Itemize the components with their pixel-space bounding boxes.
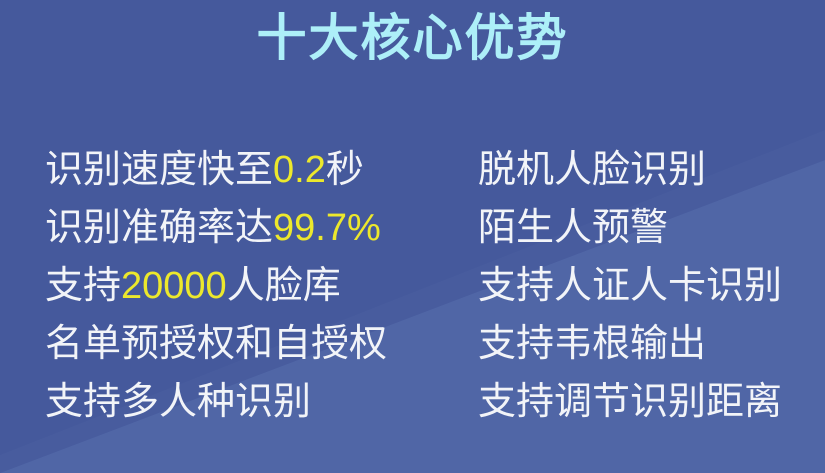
feature-highlight: 99.7% bbox=[273, 207, 381, 249]
feature-text-prefix: 支持韦根输出 bbox=[478, 323, 706, 365]
feature-highlight: 0.2 bbox=[273, 149, 326, 191]
feature-text-prefix: 识别准确率达 bbox=[45, 207, 273, 249]
feature-column-right: 脱机人脸识别 陌生人预警 支持人证人卡识别 支持韦根输出 支持调节识别距离 bbox=[478, 141, 825, 431]
feature-item: 识别准确率达99.7% bbox=[45, 199, 465, 257]
feature-text-prefix: 支持人证人卡识别 bbox=[478, 265, 782, 307]
feature-item: 支持调节识别距离 bbox=[478, 373, 825, 431]
feature-highlight: 20000 bbox=[121, 265, 227, 307]
feature-text-suffix: 秒 bbox=[326, 149, 364, 191]
feature-column-left: 识别速度快至0.2秒 识别准确率达99.7% 支持20000人脸库 名单预授权和… bbox=[45, 141, 465, 431]
promo-slide: 十大核心优势 识别速度快至0.2秒 识别准确率达99.7% 支持20000人脸库… bbox=[0, 0, 825, 473]
feature-item: 识别速度快至0.2秒 bbox=[45, 141, 465, 199]
feature-text-suffix: 人脸库 bbox=[227, 265, 341, 307]
feature-text-prefix: 识别速度快至 bbox=[45, 149, 273, 191]
feature-item: 脱机人脸识别 bbox=[478, 141, 825, 199]
feature-columns: 识别速度快至0.2秒 识别准确率达99.7% 支持20000人脸库 名单预授权和… bbox=[0, 141, 825, 461]
page-title: 十大核心优势 bbox=[0, 9, 825, 67]
feature-item: 支持人证人卡识别 bbox=[478, 257, 825, 315]
feature-text-prefix: 陌生人预警 bbox=[478, 207, 668, 249]
feature-text-prefix: 支持多人种识别 bbox=[45, 381, 311, 423]
feature-text-prefix: 支持调节识别距离 bbox=[478, 381, 782, 423]
feature-item: 陌生人预警 bbox=[478, 199, 825, 257]
feature-text-prefix: 脱机人脸识别 bbox=[478, 149, 706, 191]
feature-item: 支持20000人脸库 bbox=[45, 257, 465, 315]
feature-item: 名单预授权和自授权 bbox=[45, 315, 465, 373]
feature-item: 支持多人种识别 bbox=[45, 373, 465, 431]
feature-item: 支持韦根输出 bbox=[478, 315, 825, 373]
feature-text-prefix: 支持 bbox=[45, 265, 121, 307]
feature-text-prefix: 名单预授权和自授权 bbox=[45, 323, 387, 365]
